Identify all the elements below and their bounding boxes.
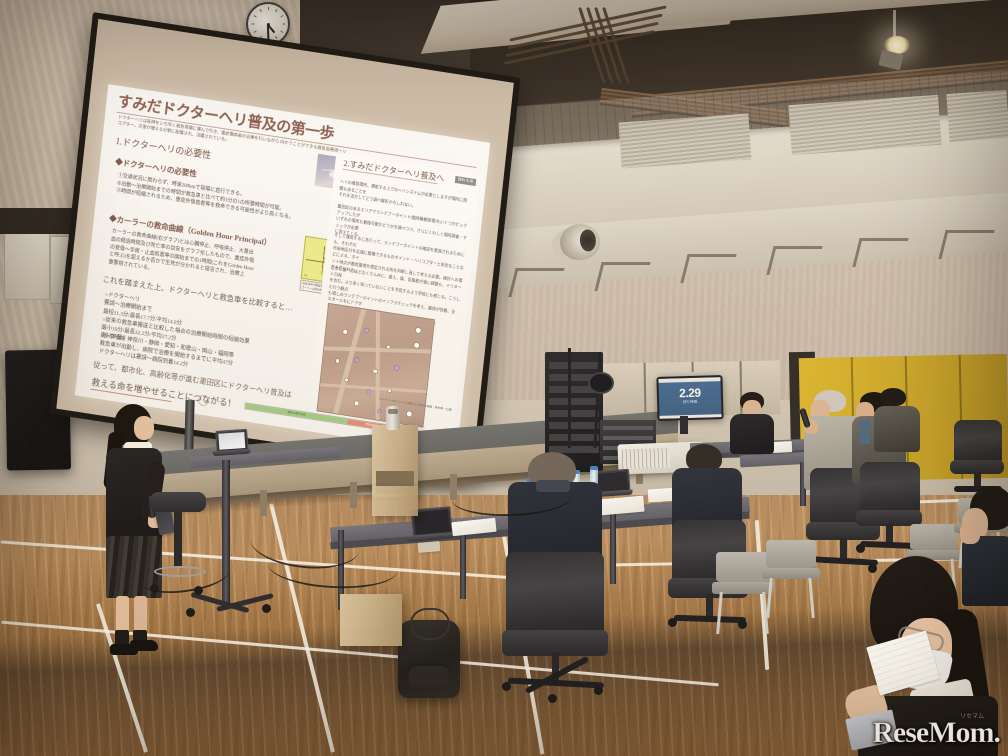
timer-label: 残り時間 xyxy=(659,399,721,406)
slide-content: すみだドクターヘリ普及の第一歩 ドクターヘリは医師をいち早く救急現場に運んで行き… xyxy=(75,84,491,455)
audience-student-2 xyxy=(962,486,1008,606)
rendezvous-map xyxy=(317,302,435,428)
student2-hand xyxy=(960,522,980,544)
slide-body-need: ①交通状況に関わらず、時速200kmで現場に直行できる。 ②出動〜治療開始までの… xyxy=(116,172,310,224)
slide-right-column: 2.すみだドクターヘリ普及へ 資料 引用 ヘリの着陸場所、運航する上でのヘリシス… xyxy=(307,154,481,444)
timer-screen: 2.29 残り時間 xyxy=(658,377,721,419)
camera-head xyxy=(588,372,614,394)
stack-chair-2[interactable] xyxy=(762,540,820,620)
cardboard-box-stage xyxy=(372,486,418,516)
countdown-timer[interactable]: 2.29 残り時間 xyxy=(656,375,723,421)
mezzanine-blinds-1 xyxy=(619,114,752,169)
notebook-judge xyxy=(418,541,441,553)
watermark-dot: . xyxy=(994,716,1001,749)
stage-leg-2 xyxy=(260,490,267,516)
judge-r3-suit xyxy=(874,406,920,452)
podium-caster-1 xyxy=(186,608,195,617)
mezzanine-blinds-2 xyxy=(788,95,941,155)
podium-table-post xyxy=(222,460,230,604)
photo-scene: すみだドクターヘリ普及の第一歩 ドクターヘリは医師をいち早く救急現場に運んで行き… xyxy=(0,0,1008,756)
slide-right-title: 2.すみだドクターヘリ普及へ xyxy=(343,158,445,184)
student2-uniform xyxy=(962,536,1008,606)
mezzanine-blinds-3 xyxy=(946,90,1008,142)
speaker-on-podium xyxy=(386,406,400,430)
timer-stand xyxy=(680,416,688,434)
laptop-podium[interactable] xyxy=(209,429,251,458)
cardboard-box-floor xyxy=(340,594,402,646)
staff-shirt xyxy=(730,414,774,454)
watermark-resemom: リセマムReseMom. xyxy=(872,716,1000,750)
watermark-jp-text: リセマム xyxy=(960,711,984,720)
staff-operator xyxy=(728,392,776,454)
wall-cabinet-1 xyxy=(4,232,50,300)
podium-caster-2 xyxy=(262,604,271,613)
slide-right-tag: 資料 引用 xyxy=(454,176,476,186)
watermark-text: ReseMom xyxy=(872,716,993,749)
presenter-shoe-right xyxy=(130,640,158,651)
camera-stand-1 xyxy=(568,348,571,448)
judge-r2-tie xyxy=(860,420,870,444)
judge-right-3 xyxy=(872,388,924,454)
judge-r3-hair xyxy=(880,388,906,406)
presenter-face xyxy=(134,416,154,440)
chair-judge-center[interactable] xyxy=(502,552,610,702)
stage-leg-3 xyxy=(350,482,357,508)
judges-table-leg-3 xyxy=(610,510,616,584)
backpack xyxy=(398,620,460,698)
